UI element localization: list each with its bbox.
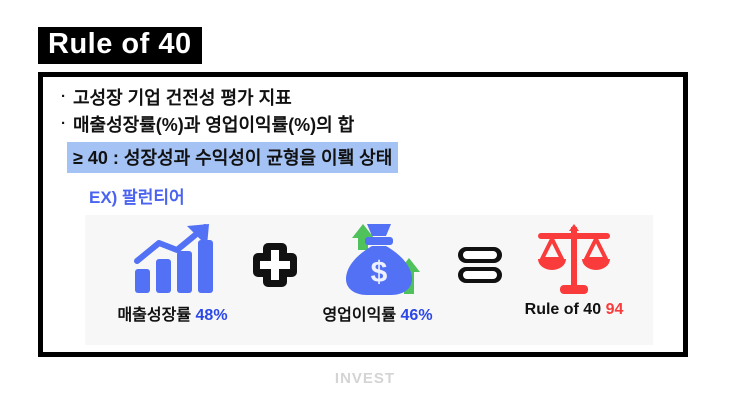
example-label: EX) 팔런티어	[89, 183, 661, 208]
list-item: · 매출성장률(%)과 영업이익률(%)의 합	[61, 112, 661, 139]
page-title: Rule of 40	[38, 27, 202, 64]
metric-growth: 매출성장률 48%	[85, 215, 260, 345]
svg-text:$: $	[370, 256, 387, 289]
bar-chart-growth-icon	[129, 221, 217, 299]
metric-value: 94	[606, 301, 624, 318]
bullet-list: · 고성장 기업 건전성 평가 지표 · 매출성장률(%)과 영업이익률(%)의…	[61, 85, 661, 208]
metric-name: 매출성장률	[117, 307, 191, 324]
balance-scale-icon	[530, 221, 618, 299]
metric-name: Rule of 40	[525, 301, 601, 318]
operator-plus	[260, 215, 290, 345]
metric-result: Rule of 40 94	[495, 215, 653, 345]
bullet-text: 매출성장률(%)과 영업이익률(%)의 합	[73, 112, 354, 139]
metric-label-profit: 영업이익률 46%	[322, 301, 432, 325]
bullet-marker: ·	[61, 85, 73, 109]
metric-label-result: Rule of 40 94	[525, 301, 624, 319]
metric-value: 48%	[196, 307, 228, 324]
metrics-panel: 매출성장률 48%	[85, 215, 653, 345]
money-bag-icon: $	[332, 221, 424, 299]
slide-root: Rule of 40 · 고성장 기업 건전성 평가 지표 · 매출성장률(%)…	[0, 0, 730, 410]
list-item: · 고성장 기업 건전성 평가 지표	[61, 85, 661, 112]
operator-equals	[465, 215, 495, 345]
metric-name: 영업이익률	[322, 307, 396, 324]
metric-label-growth: 매출성장률 48%	[117, 301, 227, 325]
metric-profit: $ 영업이익률 46%	[290, 215, 465, 345]
bullet-marker: ·	[61, 112, 73, 136]
content-frame: · 고성장 기업 건전성 평가 지표 · 매출성장률(%)과 영업이익률(%)의…	[38, 72, 688, 357]
highlight-callout: ≥ 40 : 성장성과 수익성이 균형을 이뢬 상태	[67, 142, 398, 173]
bullet-text: 고성장 기업 건전성 평가 지표	[73, 85, 292, 112]
footer-brand: INVEST	[0, 370, 730, 387]
metric-value: 46%	[401, 307, 433, 324]
